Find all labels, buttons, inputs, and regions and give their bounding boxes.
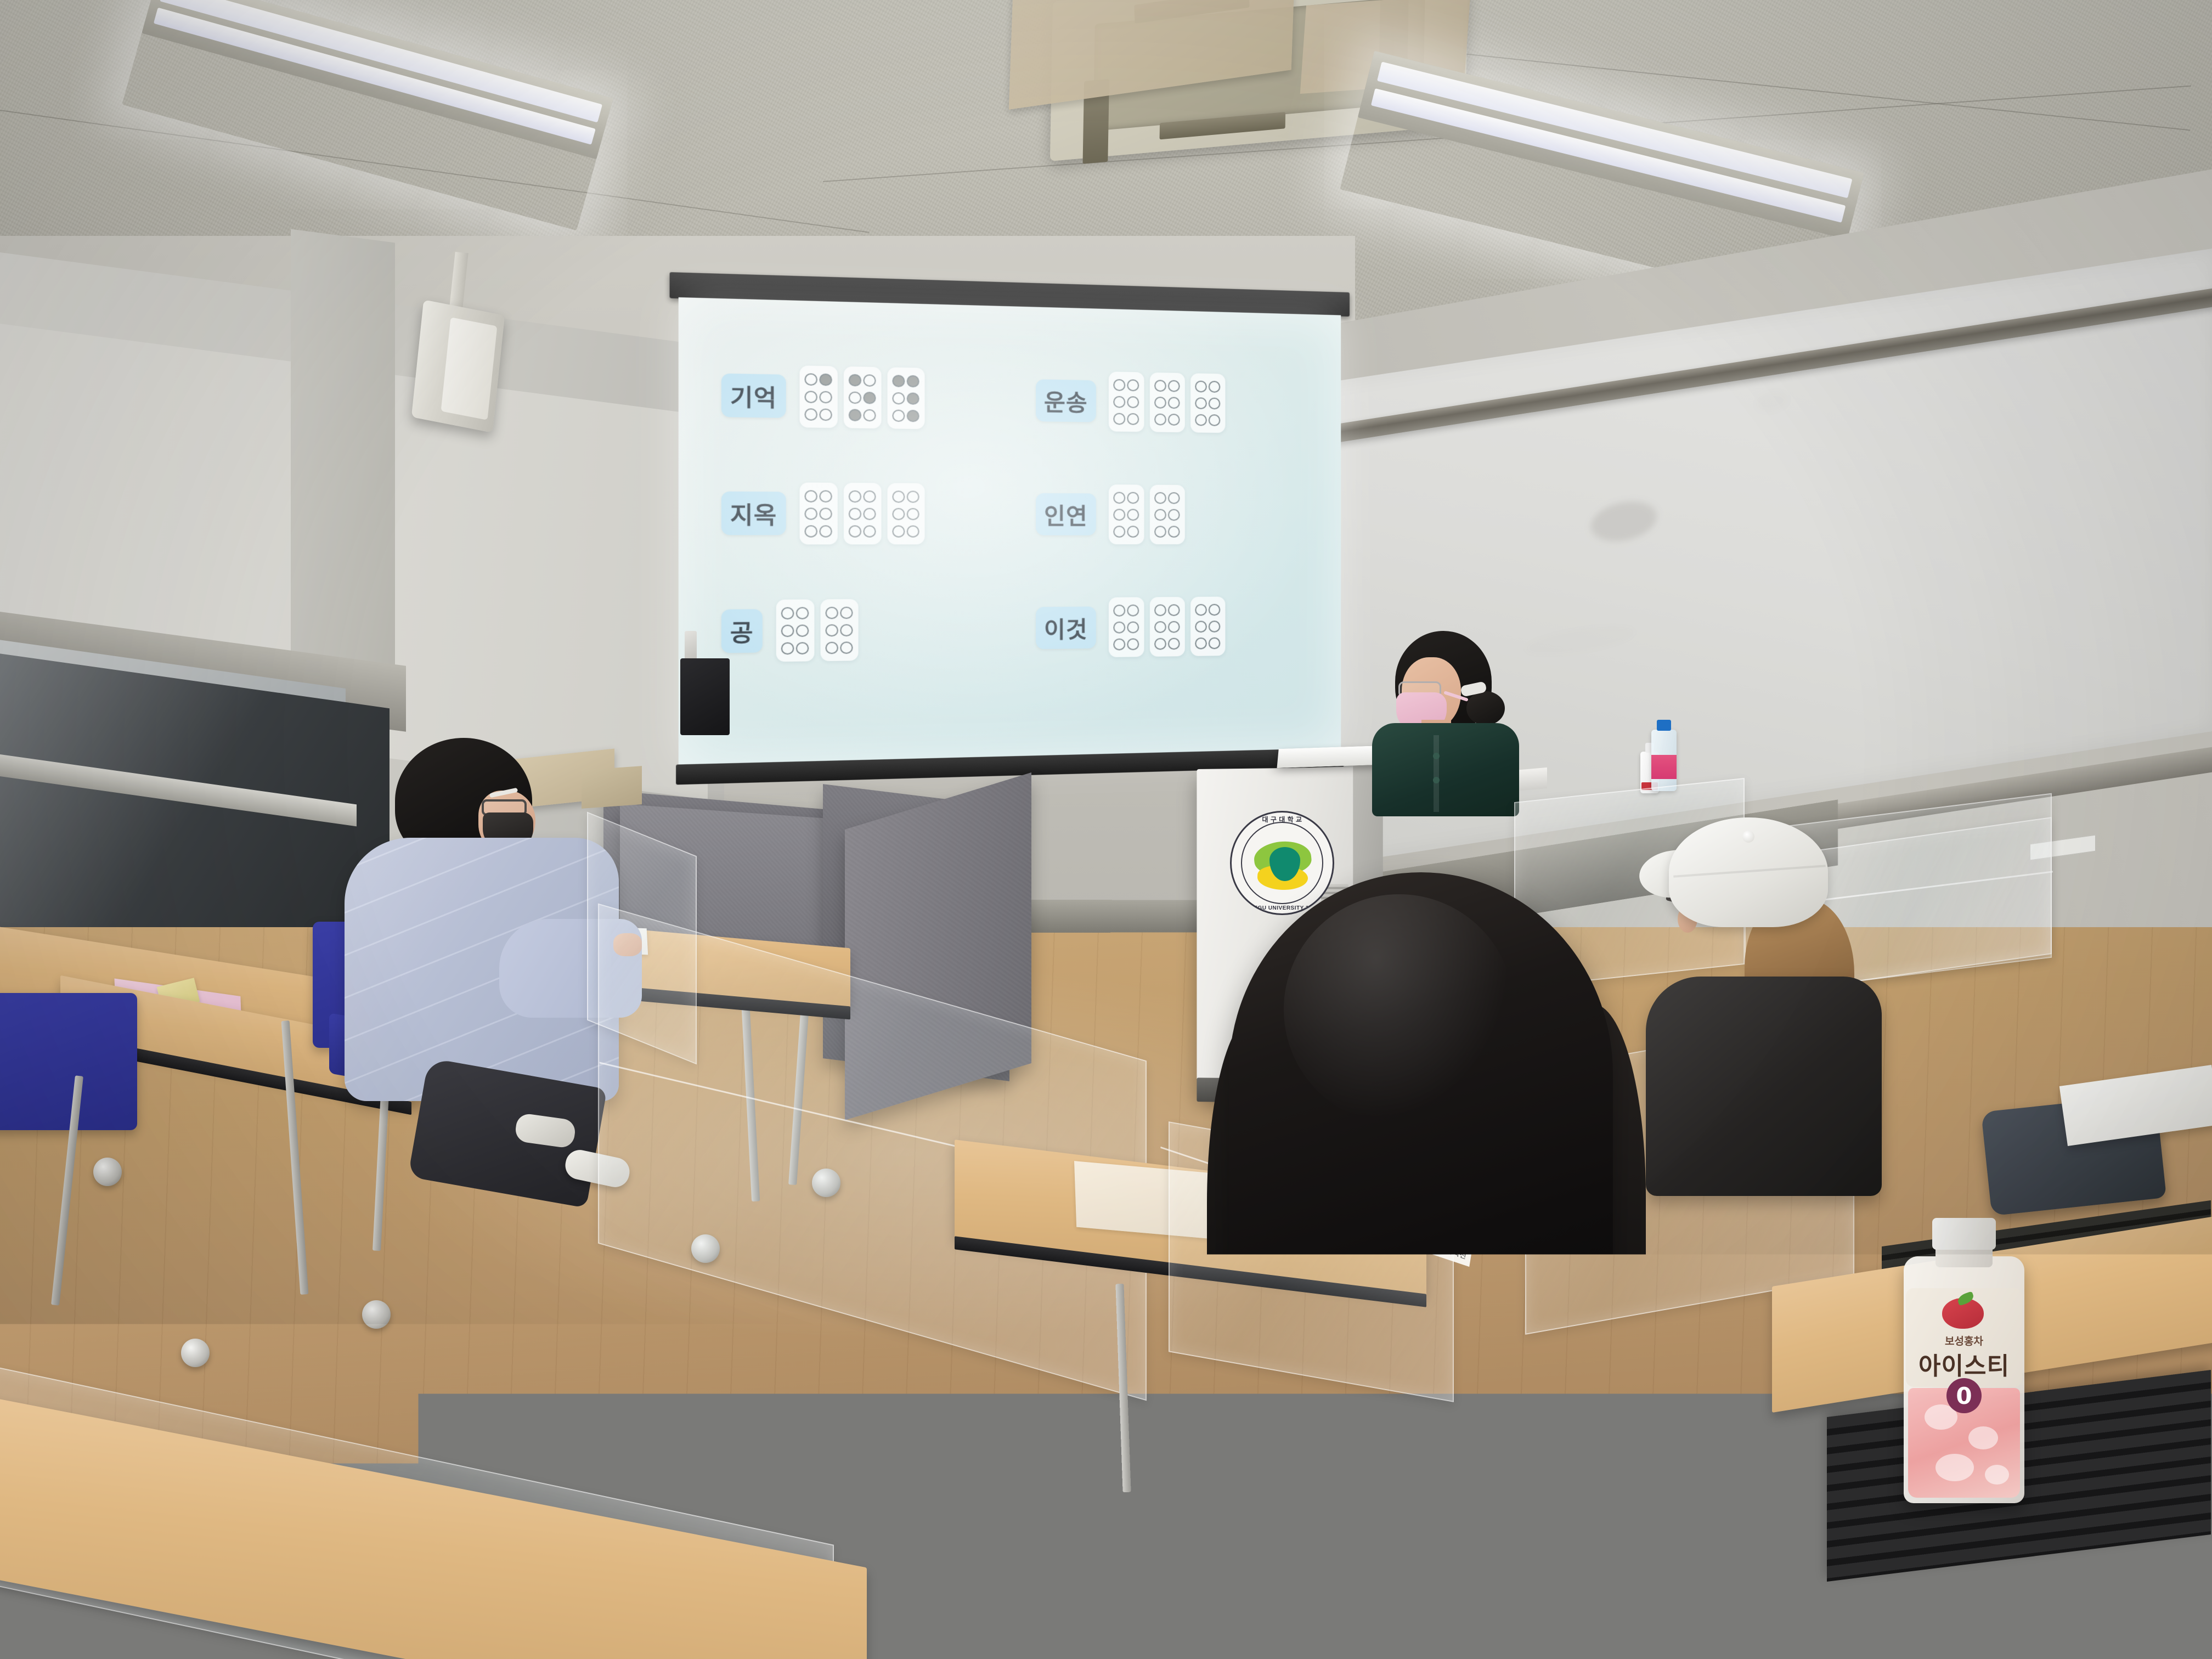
braille-dot-empty: [796, 607, 809, 619]
braille-cell[interactable]: [1190, 597, 1225, 656]
classroom-scene: 기억운송지옥인연공이것 대 구 대 학 교 DAE: [0, 0, 2212, 1659]
desk-caster: [181, 1339, 210, 1367]
braille-dot-empty: [819, 408, 832, 421]
braille-dot-empty: [826, 624, 838, 636]
braille-dot-empty: [796, 624, 809, 637]
calorie-badge: 0: [1946, 1378, 1982, 1413]
cardigan-placket: [1434, 735, 1439, 812]
braille-dot-empty: [893, 392, 905, 404]
braille-dot-empty: [819, 525, 832, 537]
braille-word-label: 공: [721, 609, 763, 653]
braille-dot-empty: [1168, 380, 1180, 392]
braille-dot-empty: [1113, 509, 1125, 521]
window-blind-panel: [291, 229, 395, 687]
braille-dot-empty: [864, 490, 876, 502]
braille-dot-empty: [907, 490, 919, 503]
braille-dot-empty: [840, 624, 853, 636]
bottle-cap[interactable]: [1657, 720, 1671, 731]
braille-cell-group: [1109, 597, 1226, 657]
speaker-grille: [441, 317, 498, 420]
braille-dot-empty: [1113, 605, 1125, 617]
braille-word-label: 기억: [721, 374, 786, 418]
braille-dot-empty: [1113, 413, 1125, 425]
braille-dot-empty: [1195, 397, 1206, 409]
braille-dot-empty: [1113, 621, 1125, 633]
braille-dot-empty: [1209, 603, 1220, 616]
acrylic-divider: [1207, 1353, 1591, 1659]
braille-cell[interactable]: [820, 599, 858, 661]
whiteboard-smudge: [1591, 497, 1657, 545]
braille-dot-empty: [893, 409, 905, 421]
braille-word-label: 이것: [1036, 607, 1096, 650]
student-jacket: [1646, 977, 1882, 1196]
bottle-brand-big: 아이스티: [1904, 1346, 2024, 1381]
braille-dot-empty: [1168, 414, 1180, 426]
braille-dot-empty: [1209, 414, 1220, 426]
cardigan-button: [1433, 753, 1440, 759]
braille-cell-group: [776, 599, 859, 662]
braille-dot-empty: [805, 408, 818, 421]
braille-cell[interactable]: [1109, 597, 1144, 657]
bottle-brand-small: 보성홍차: [1904, 1333, 2024, 1348]
braille-cell[interactable]: [799, 482, 837, 544]
braille-dot-empty: [1154, 413, 1166, 425]
braille-dot-empty: [781, 624, 794, 637]
braille-dot-empty: [1154, 396, 1166, 408]
braille-cell[interactable]: [799, 365, 837, 428]
braille-dot-empty: [1168, 492, 1180, 504]
braille-dot-empty: [1127, 413, 1139, 425]
braille-dot-empty: [1113, 379, 1125, 391]
braille-row: 이것: [1036, 570, 1312, 685]
braille-dot-empty: [1154, 509, 1166, 521]
desk-caster: [362, 1300, 391, 1329]
braille-dot-empty: [826, 641, 838, 654]
braille-word-label: 운송: [1036, 379, 1096, 422]
braille-cell[interactable]: [887, 483, 924, 544]
cap-button: [1742, 831, 1754, 843]
braille-dot-empty: [1127, 396, 1139, 408]
braille-dot-empty: [826, 606, 838, 618]
braille-dot-empty: [781, 642, 794, 654]
braille-dot-empty: [1154, 604, 1166, 616]
braille-cell-group: [1109, 484, 1185, 544]
braille-dot-empty: [849, 490, 861, 502]
braille-dot-empty: [1195, 380, 1206, 392]
braille-dot-empty: [1209, 637, 1220, 649]
braille-dot-filled: [819, 373, 832, 386]
emblem-korean-name: 대 구 대 학 교: [1232, 815, 1333, 824]
braille-dot-empty: [840, 606, 853, 618]
projection-screen-assembly[interactable]: 기억운송지옥인연공이것: [670, 279, 1350, 802]
braille-dot-empty: [1154, 380, 1166, 392]
braille-row: 인연: [1036, 457, 1312, 571]
braille-row: 공: [721, 571, 1018, 690]
braille-dot-empty: [893, 490, 905, 503]
hair-sheen: [1284, 894, 1514, 1125]
braille-dot-empty: [864, 409, 876, 421]
braille-cell[interactable]: [1149, 373, 1184, 432]
braille-cell[interactable]: [1109, 371, 1144, 432]
braille-dot-filled: [907, 409, 919, 421]
cardigan-button: [1433, 777, 1440, 783]
braille-dot-empty: [805, 373, 818, 386]
braille-cell[interactable]: [844, 366, 882, 428]
braille-dot-empty: [1168, 620, 1180, 633]
braille-dot-empty: [1195, 603, 1206, 616]
chair-caster: [93, 1158, 122, 1186]
braille-dot-empty: [1113, 526, 1125, 538]
braille-dot-empty: [907, 507, 919, 520]
braille-dot-empty: [864, 525, 876, 537]
braille-cell[interactable]: [1190, 373, 1225, 433]
braille-dot-empty: [1168, 526, 1180, 537]
braille-dot-filled: [893, 375, 905, 387]
student-with-cap: [1635, 817, 1942, 1201]
braille-dot-empty: [1113, 638, 1125, 650]
braille-dot-empty: [1195, 620, 1206, 633]
braille-dot-empty: [1127, 638, 1139, 650]
whiteboard-smudge: [1756, 390, 1788, 414]
braille-cell[interactable]: [1109, 484, 1144, 544]
braille-dot-empty: [1168, 637, 1180, 650]
projected-slide: 기억운송지옥인연공이것: [679, 297, 1341, 766]
braille-cell[interactable]: [887, 367, 924, 429]
water-bottle[interactable]: [1651, 730, 1677, 791]
braille-row: 지옥: [721, 454, 1018, 572]
braille-row: 운송: [1036, 343, 1312, 460]
braille-dot-empty: [1127, 492, 1139, 504]
braille-cell-group: [799, 365, 924, 429]
braille-cell[interactable]: [844, 483, 882, 544]
braille-cell[interactable]: [1149, 597, 1184, 657]
chair[interactable]: [0, 993, 137, 1130]
braille-dot-empty: [1209, 620, 1220, 633]
chair-back: [0, 993, 137, 1130]
braille-dot-empty: [819, 490, 832, 502]
braille-row: 기억: [721, 336, 1018, 457]
braille-dot-empty: [864, 507, 876, 520]
braille-word-label: 지옥: [721, 492, 786, 535]
braille-dot-filled: [849, 409, 861, 421]
braille-dot-empty: [1154, 621, 1166, 633]
braille-dot-empty: [1195, 414, 1206, 426]
braille-dot-empty: [1127, 621, 1139, 633]
desk-label: [1317, 1618, 1437, 1646]
braille-dot-filled: [864, 391, 876, 404]
braille-dot-empty: [1127, 509, 1139, 521]
braille-dot-filled: [907, 375, 919, 387]
braille-dot-empty: [1127, 604, 1139, 616]
braille-exercise-grid: 기억운송지옥인연공이것: [721, 336, 1313, 690]
braille-dot-empty: [864, 374, 876, 387]
braille-dot-empty: [1154, 526, 1166, 538]
braille-dot-empty: [849, 507, 861, 520]
braille-dot-empty: [1113, 396, 1125, 408]
braille-dot-empty: [1127, 379, 1139, 391]
braille-dot-empty: [849, 525, 861, 537]
braille-dot-empty: [907, 525, 919, 537]
braille-word-label: 인연: [1036, 493, 1096, 535]
braille-dot-empty: [1195, 637, 1206, 649]
braille-cell[interactable]: [1149, 485, 1184, 545]
braille-dot-empty: [1209, 381, 1220, 393]
presenter: [1369, 631, 1533, 812]
braille-dot-empty: [796, 642, 809, 654]
braille-dot-empty: [805, 391, 818, 403]
braille-dot-empty: [1168, 397, 1180, 409]
projection-screen-surface: 기억운송지옥인연공이것: [679, 297, 1341, 766]
braille-dot-empty: [781, 607, 794, 619]
pa-speaker: [417, 307, 499, 428]
braille-dot-empty: [819, 391, 832, 403]
braille-cell-group: [1109, 371, 1226, 433]
braille-dot-empty: [1209, 397, 1220, 409]
braille-dot-empty: [1127, 526, 1139, 538]
presenter-cardigan: [1372, 723, 1519, 816]
braille-dot-empty: [1154, 492, 1166, 504]
braille-dot-empty: [1168, 509, 1180, 521]
bottle-cap[interactable]: [1932, 1218, 1996, 1250]
braille-dot-empty: [819, 507, 832, 520]
wall-equipment-box: [680, 658, 730, 735]
braille-dot-empty: [1154, 637, 1166, 650]
iced-tea-bottle[interactable]: 보성홍차 아이스티 0: [1904, 1223, 2024, 1503]
braille-dot-empty: [805, 490, 818, 502]
braille-dot-empty: [840, 641, 853, 654]
braille-cell[interactable]: [776, 600, 815, 662]
braille-dot-filled: [849, 374, 861, 386]
braille-dot-empty: [893, 525, 905, 537]
braille-dot-empty: [1113, 492, 1125, 504]
presenter-hair-bun: [1466, 691, 1505, 725]
braille-dot-empty: [805, 525, 818, 537]
braille-dot-empty: [1168, 604, 1180, 616]
whiteboard-smudge: [1525, 621, 1635, 659]
braille-dot-empty: [805, 507, 818, 520]
bottle-label: [1651, 755, 1677, 779]
braille-dot-filled: [907, 392, 919, 404]
braille-cell-group: [799, 482, 924, 544]
braille-dot-empty: [849, 391, 861, 404]
braille-dot-empty: [893, 507, 905, 520]
